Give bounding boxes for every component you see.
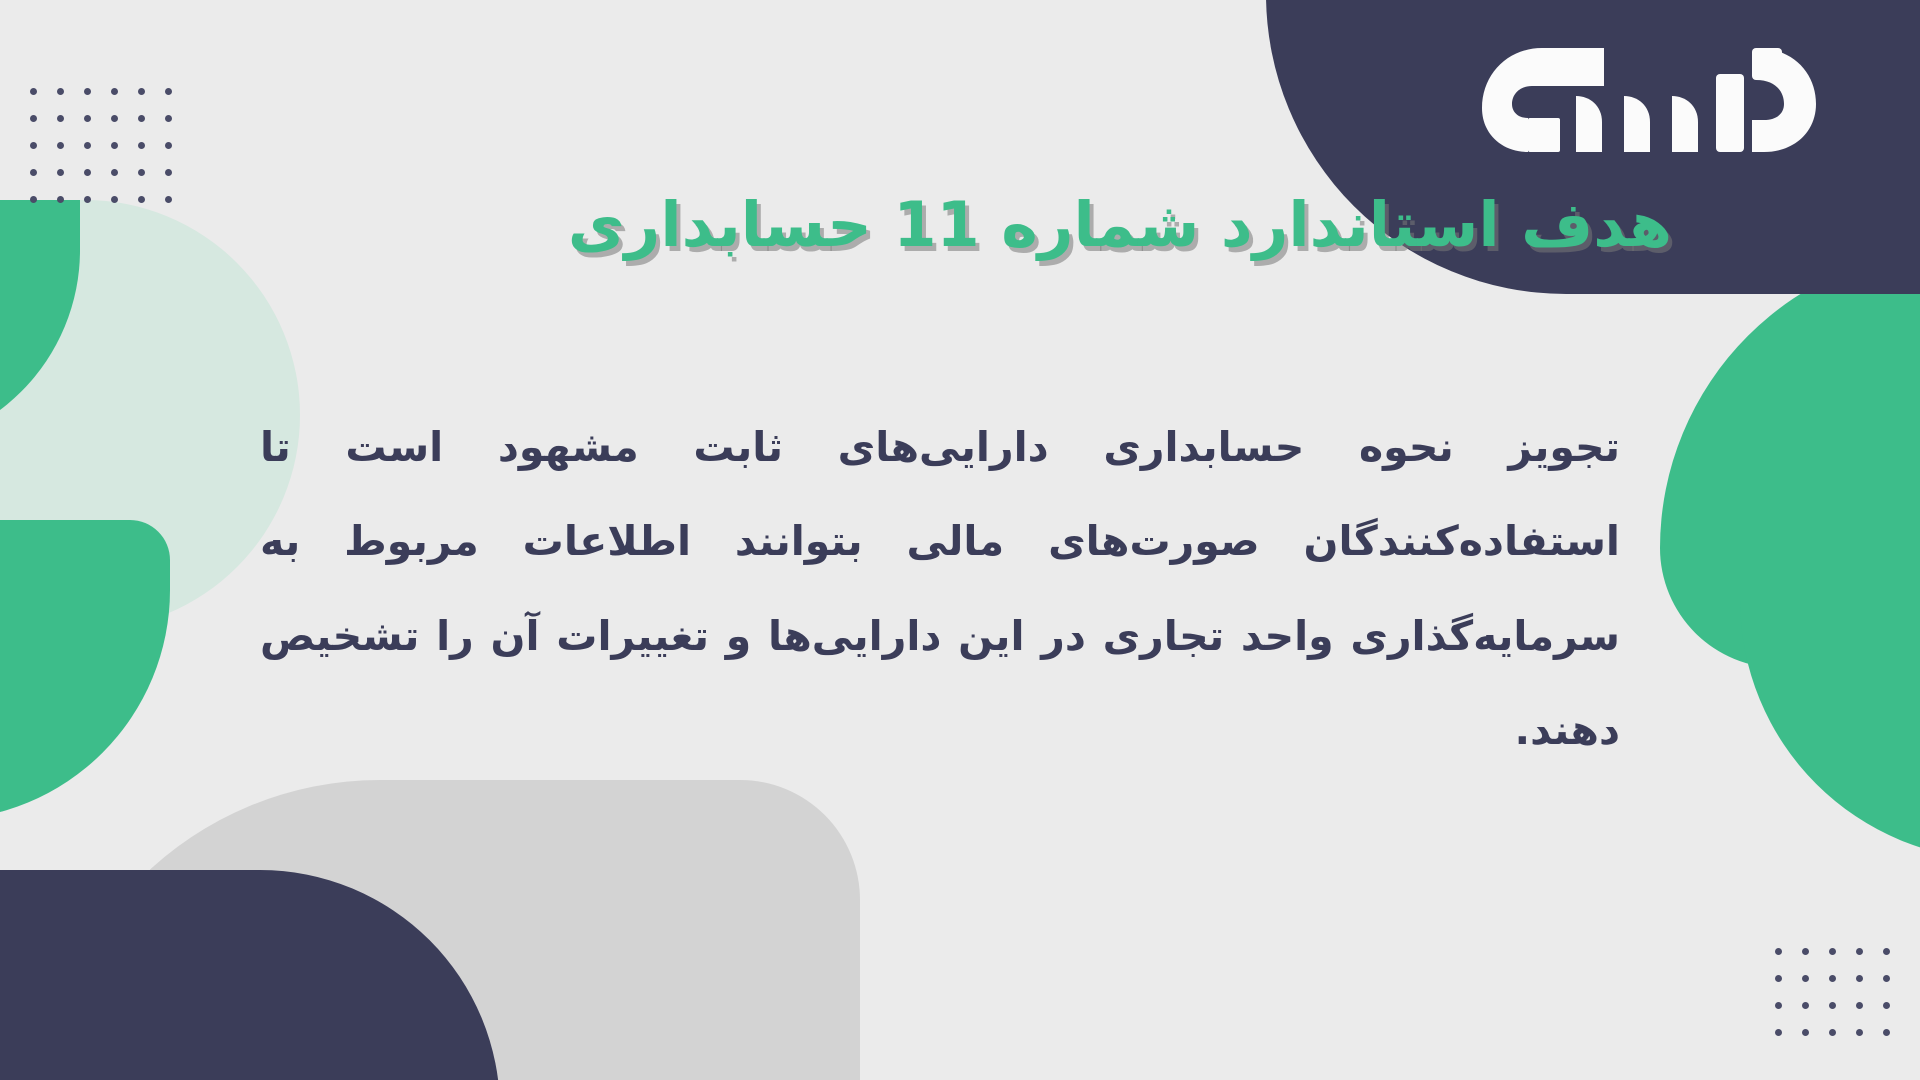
body-paragraph: تجویز نحوه حسابداری دارایی‌های ثابت مشهو… [260, 400, 1620, 777]
page-title: هدف استاندارد شماره 11 حسابداری [472, 188, 1672, 262]
slide-canvas: هدف استاندارد شماره 11 حسابداری تجویز نح… [0, 0, 1920, 1080]
slide-content: هدف استاندارد شماره 11 حسابداری تجویز نح… [0, 0, 1920, 1080]
